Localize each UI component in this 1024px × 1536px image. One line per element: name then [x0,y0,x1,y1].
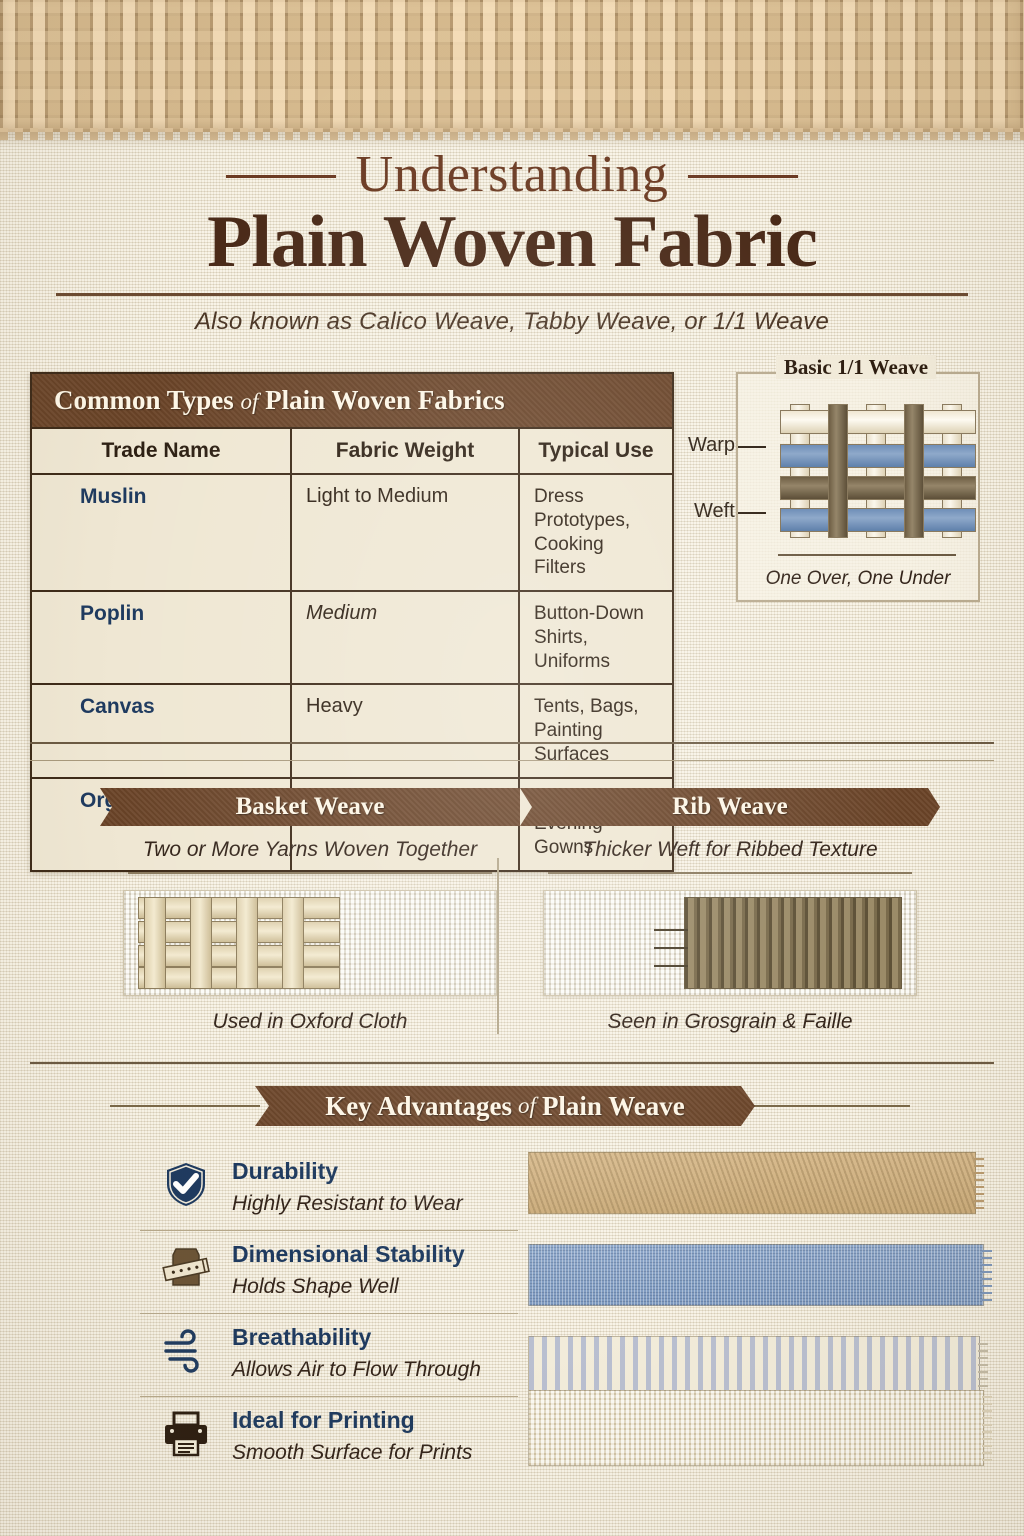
panel-vertical-divider [497,858,499,1034]
advantage-item: Ideal for PrintingSmooth Surface for Pri… [140,1396,518,1479]
weave-grid [790,404,966,538]
advantages-banner: Key Advantages of Plain Weave [255,1086,755,1126]
advantage-subtitle: Holds Shape Well [232,1275,399,1299]
cell-fabric-weight: Heavy [291,684,519,777]
warp-label-text: Warp [688,434,735,456]
advantages-rule-left [110,1105,260,1107]
printer-icon [162,1409,216,1463]
burlap-texture-band [0,0,1024,132]
cream-plain-weave-strip [528,1390,984,1466]
weft-label-text: Weft [694,500,735,522]
panel-rib-weave: Rib Weave Thicker Weft for Ribbed Textur… [520,788,940,1034]
kicker-text: Understanding [356,146,669,203]
advantages-banner-main: Key Advantages [325,1091,512,1122]
advantage-title-rule [232,1354,514,1355]
warp-thread-2 [828,404,848,538]
advantage-title-rule [232,1437,514,1438]
warp-leader-line [738,446,766,448]
advantages-banner-rest: Plain Weave [542,1091,685,1122]
cell-trade-name: Canvas [32,684,291,777]
table-banner: Common Types of Plain Woven Fabrics [32,374,672,429]
advantage-subtitle: Allows Air to Flow Through [232,1358,481,1382]
advantage-subtitle: Highly Resistant to Wear [232,1192,463,1216]
kicker-rule-left [226,175,336,178]
column-header-trade-name: Trade Name [32,429,291,474]
table-banner-of: of [241,389,259,414]
advantages-list: DurabilityHighly Resistant to WearDimens… [140,1148,518,1479]
warp-thread-4 [904,404,924,538]
weft-thread-1 [780,410,976,434]
advantage-subtitle: Smooth Surface for Prints [232,1441,472,1465]
tan-twill-strip [528,1152,976,1214]
wind-icon [162,1326,216,1380]
advantage-title: Ideal for Printing [232,1407,415,1434]
page-subtitle: Also known as Calico Weave, Tabby Weave,… [0,308,1024,336]
panel-caption-basket-weave: Used in Oxford Cloth [100,1010,520,1034]
column-header-fabric-weight: Fabric Weight [291,429,519,474]
weft-thread-2 [780,444,976,468]
advantage-item: Dimensional StabilityHolds Shape Well [140,1230,518,1313]
panel-rule-basket [128,872,492,874]
title-block: Understanding Plain Woven Fabric Also kn… [0,148,1024,336]
table-banner-rest: Plain Woven Fabrics [265,385,505,415]
column-header-typical-use: Typical Use [519,429,672,474]
advantage-title: Dimensional Stability [232,1241,465,1268]
fabric-swatch-strips [528,1152,990,1484]
cell-trade-name: Muslin [32,474,291,591]
advantage-title-rule [232,1271,514,1272]
basket-vertical-strip [282,897,304,989]
weave-caption-divider [778,554,956,556]
basic-weave-diagram-box: One Over, One Under [736,372,980,602]
kicker-wrap: Understanding [356,148,669,203]
page-title: Plain Woven Fabric [0,205,1024,279]
advantage-title: Durability [232,1158,338,1185]
basket-weave-swatch [123,890,497,996]
advantage-item: BreathabilityAllows Air to Flow Through [140,1313,518,1396]
panel-caption-rib-weave: Seen in Grosgrain & Faille [520,1010,940,1034]
basket-vertical-strip [236,897,258,989]
cell-fabric-weight: Light to Medium [291,474,519,591]
weave-box-title-wrap: Basic 1/1 Weave [736,355,976,380]
table-row: CanvasHeavyTents, Bags, Painting Surface… [32,684,672,777]
ruler-icon [162,1243,216,1297]
basket-weave-pattern [138,897,340,989]
infographic-page: Understanding Plain Woven Fabric Also kn… [0,0,1024,1536]
blue-stripe-grosgrain-strip [528,1336,980,1392]
kicker-rule-right [688,175,798,178]
table-banner-main: Common Types [54,385,234,415]
panel-rule-rib [548,872,912,874]
weave-box-title: Basic 1/1 Weave [776,355,936,379]
cell-trade-name: Poplin [32,591,291,684]
section-divider-top [30,742,994,744]
panel-title-rib-weave: Rib Weave [520,788,940,826]
advantage-item: DurabilityHighly Resistant to Wear [140,1148,518,1230]
table-row: PoplinMediumButton-Down Shirts, Uniforms [32,591,672,684]
panel-basket-weave: Basket Weave Two or More Yarns Woven Tog… [100,788,520,1034]
table-header-row: Trade Name Fabric Weight Typical Use [32,429,672,474]
basket-vertical-strip [144,897,166,989]
shield-check-icon [162,1160,216,1214]
cell-typical-use: Dress Prototypes, Cooking Filters [519,474,672,591]
cell-fabric-weight: Medium [291,591,519,684]
cell-typical-use: Tents, Bags, Painting Surfaces [519,684,672,777]
weave-caption: One Over, One Under [738,568,978,590]
panel-title-basket-weave: Basket Weave [100,788,520,826]
cell-typical-use: Button-Down Shirts, Uniforms [519,591,672,684]
advantage-title-rule [232,1188,514,1189]
advantages-banner-of: of [512,1093,542,1119]
weft-label: Weft [694,500,735,523]
advantages-rule-right [750,1105,910,1107]
advantage-title: Breathability [232,1324,371,1351]
weft-leader-line [738,512,766,514]
panel-subtitle-basket-weave: Two or More Yarns Woven Together [100,838,520,862]
section-divider-top-thin [30,760,994,761]
weft-thread-3 [780,476,976,500]
rib-weave-fringe [654,921,688,967]
warp-label: Warp [688,434,735,457]
blue-plain-weave-strip [528,1244,984,1306]
basket-vertical-strip [190,897,212,989]
section-divider-advantages [30,1062,994,1064]
table-row: MuslinLight to MediumDress Prototypes, C… [32,474,672,591]
rib-weave-pattern [684,897,902,989]
weft-thread-4 [780,508,976,532]
panel-subtitle-rib-weave: Thicker Weft for Ribbed Texture [520,838,940,862]
title-divider [56,293,968,296]
rib-weave-swatch [543,890,917,996]
